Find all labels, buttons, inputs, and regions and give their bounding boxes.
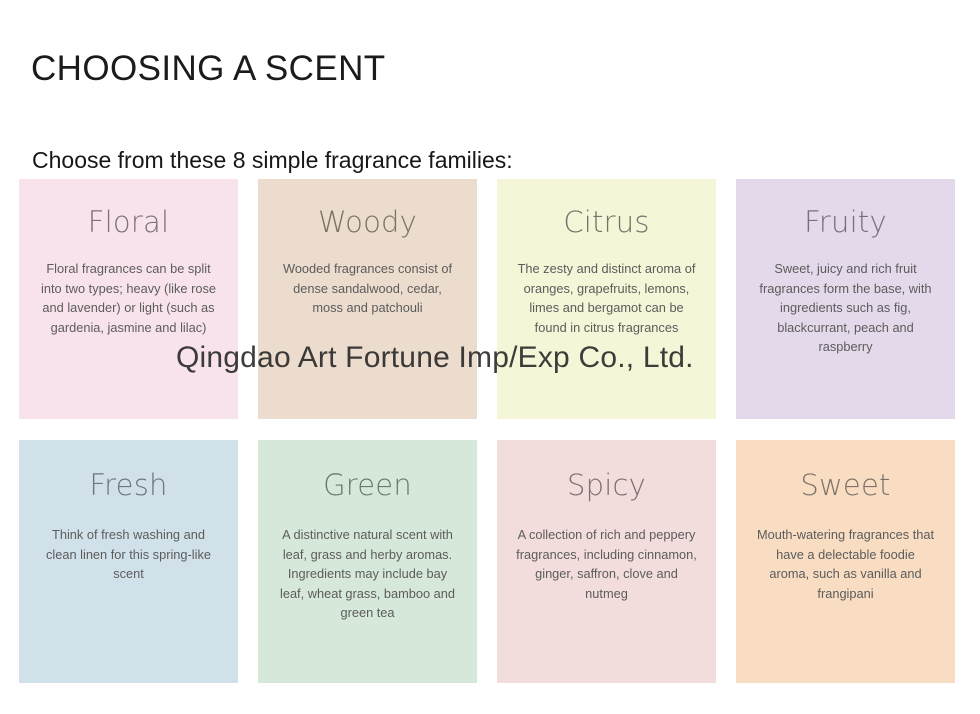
fragrance-card-description: Mouth-watering fragrances that have a de… — [755, 525, 937, 603]
fragrance-card-description: Floral fragrances can be split into two … — [38, 259, 220, 337]
fragrance-card-description: Wooded fragrances consist of dense sanda… — [277, 259, 459, 318]
fragrance-card-title: Sweet — [800, 471, 890, 500]
fragrance-card-description: Sweet, juicy and rich fruit fragrances f… — [755, 259, 937, 357]
fragrance-card-description: The zesty and distinct aroma of oranges,… — [516, 259, 698, 337]
fragrance-card-title: Woody — [318, 208, 417, 237]
fragrance-card-title: Floral — [88, 208, 169, 237]
fragrance-card-fruity: Fruity Sweet, juicy and rich fruit fragr… — [736, 179, 955, 419]
page-title: CHOOSING A SCENT — [31, 50, 386, 89]
fragrance-card-fresh: Fresh Think of fresh washing and clean l… — [19, 440, 238, 683]
fragrance-card-title: Citrus — [563, 208, 649, 237]
fragrance-family-grid: Floral Floral fragrances can be split in… — [19, 179, 957, 683]
page-subtitle: Choose from these 8 simple fragrance fam… — [32, 147, 513, 175]
fragrance-card-title: Spicy — [567, 471, 646, 500]
fragrance-card-title: Fruity — [804, 208, 887, 237]
slide-canvas: CHOOSING A SCENT Choose from these 8 sim… — [0, 0, 980, 714]
fragrance-card-floral: Floral Floral fragrances can be split in… — [19, 179, 238, 419]
fragrance-card-green: Green A distinctive natural scent with l… — [258, 440, 477, 683]
fragrance-card-description: A collection of rich and peppery fragran… — [516, 525, 698, 603]
fragrance-card-woody: Woody Wooded fragrances consist of dense… — [258, 179, 477, 419]
fragrance-card-description: Think of fresh washing and clean linen f… — [38, 525, 220, 584]
fragrance-card-title: Green — [323, 471, 412, 500]
fragrance-card-sweet: Sweet Mouth-watering fragrances that hav… — [736, 440, 955, 683]
fragrance-card-citrus: Citrus The zesty and distinct aroma of o… — [497, 179, 716, 419]
fragrance-card-description: A distinctive natural scent with leaf, g… — [277, 525, 459, 623]
fragrance-card-spicy: Spicy A collection of rich and peppery f… — [497, 440, 716, 683]
fragrance-card-title: Fresh — [89, 471, 167, 500]
